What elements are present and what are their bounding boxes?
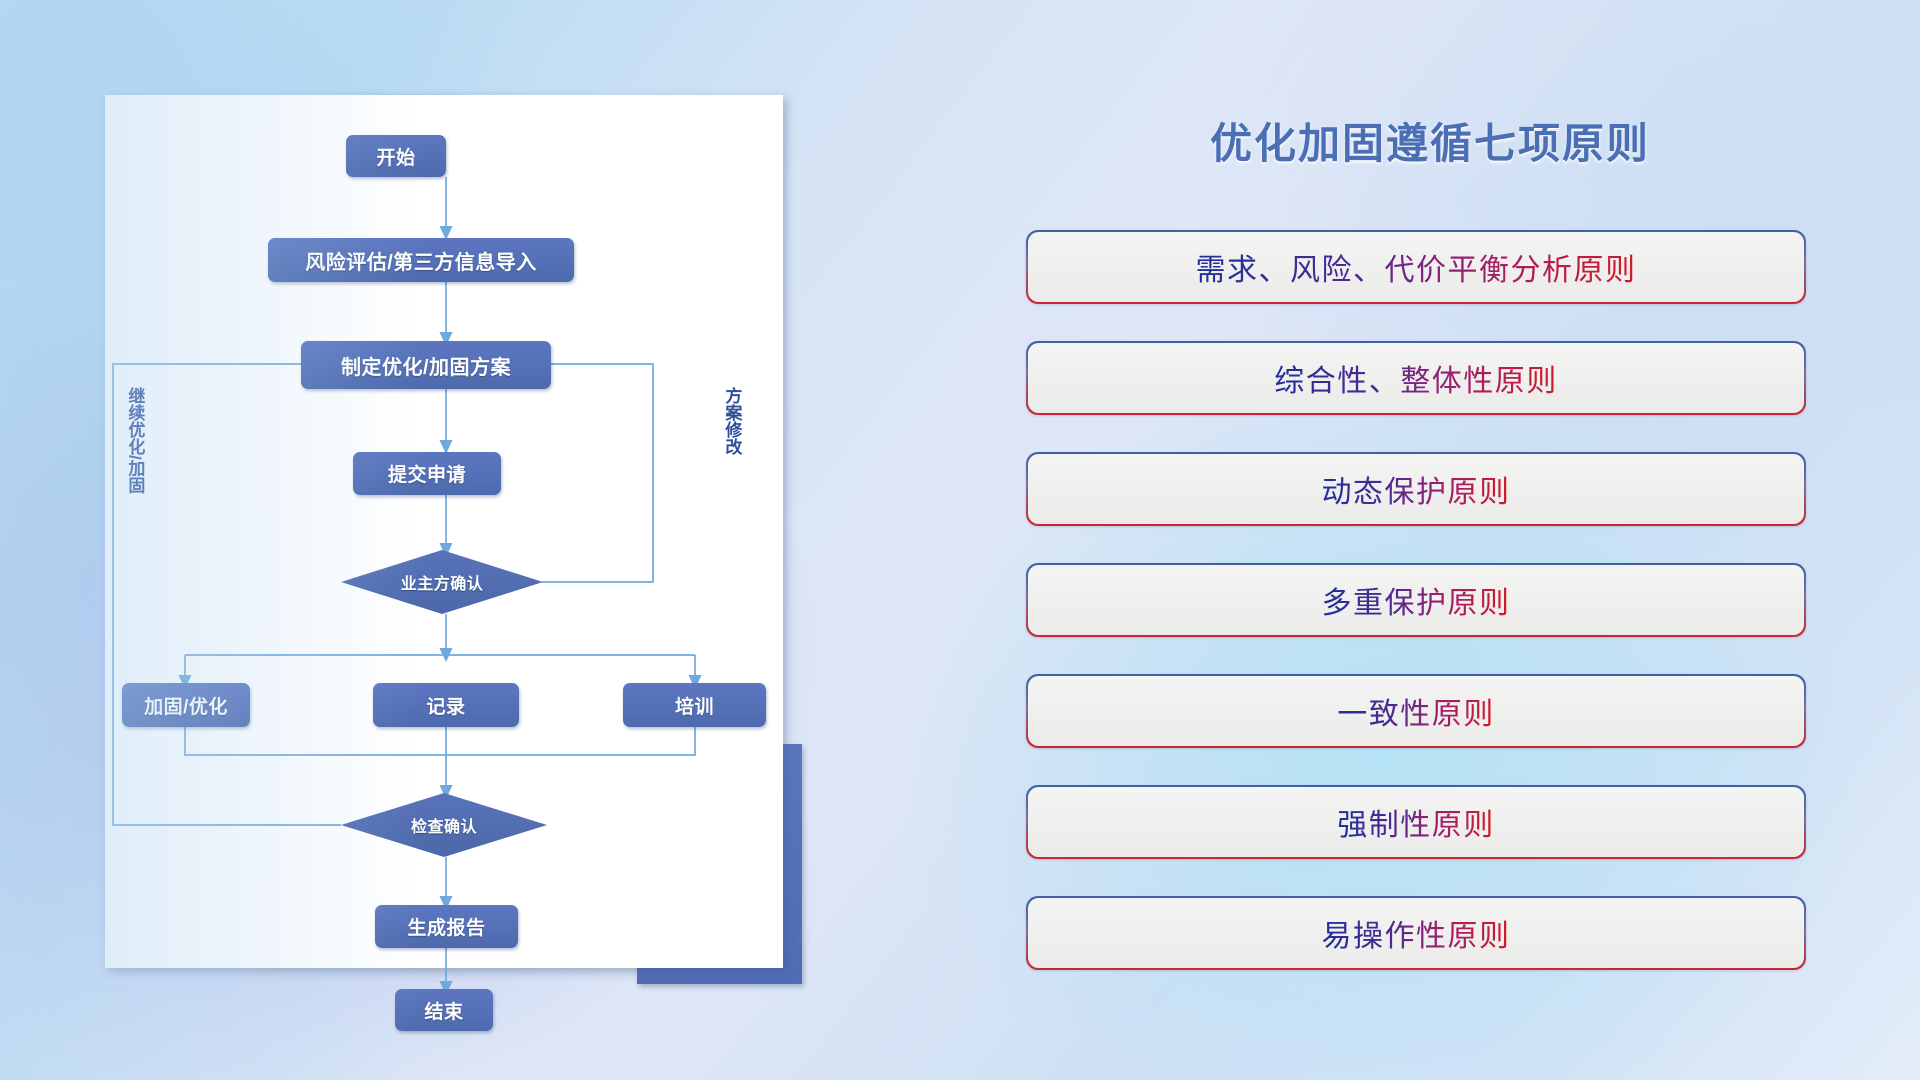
flow-node-reinforce-optimize[interactable]: 加固/优化 — [122, 683, 250, 727]
principle-item[interactable]: 综合性、整体性原则 — [1026, 341, 1806, 415]
flow-node-label: 培训 — [675, 692, 714, 719]
flow-node-label: 加固/优化 — [144, 692, 228, 719]
slide-canvas: 开始 风险评估/第三方信息导入 制定优化/加固方案 提交申请 业主方确认 加固/… — [0, 0, 1920, 1080]
flow-node-label: 制定优化/加固方案 — [341, 351, 511, 380]
principle-inner: 动态保护原则 — [1028, 454, 1805, 525]
flow-node-owner-confirm[interactable]: 业主方确认 — [341, 550, 543, 614]
principle-item[interactable]: 需求、风险、代价平衡分析原则 — [1026, 230, 1806, 304]
principles-list: 需求、风险、代价平衡分析原则 综合性、整体性原则 动态保护原则 多重保护原则 一… — [1026, 230, 1806, 1007]
flow-node-inspection-confirm[interactable]: 检查确认 — [341, 793, 547, 857]
flow-node-generate-report[interactable]: 生成报告 — [375, 905, 518, 948]
principle-label: 综合性、整体性原则 — [1274, 356, 1558, 400]
principle-label: 一致性原则 — [1337, 689, 1495, 733]
edge-label-continue-optimize: 继续优化/加固 — [126, 387, 143, 494]
edge-label-plan-revision: 方案修改 — [723, 387, 740, 455]
flowchart: 开始 风险评估/第三方信息导入 制定优化/加固方案 提交申请 业主方确认 加固/… — [105, 95, 783, 968]
principle-item[interactable]: 动态保护原则 — [1026, 452, 1806, 526]
principle-inner: 强制性原则 — [1028, 787, 1805, 858]
principle-inner: 一致性原则 — [1028, 676, 1805, 747]
flow-node-record[interactable]: 记录 — [373, 683, 519, 727]
flow-node-training[interactable]: 培训 — [623, 683, 766, 727]
principle-label: 动态保护原则 — [1322, 467, 1511, 511]
flow-node-label: 记录 — [426, 692, 465, 719]
flow-node-label: 结束 — [424, 997, 463, 1024]
flow-node-label: 生成报告 — [407, 913, 485, 940]
principle-label: 需求、风险、代价平衡分析原则 — [1196, 245, 1637, 289]
principle-inner: 综合性、整体性原则 — [1028, 343, 1805, 414]
flow-node-submit-application[interactable]: 提交申请 — [353, 452, 501, 495]
principle-inner: 需求、风险、代价平衡分析原则 — [1028, 232, 1805, 303]
flow-node-end[interactable]: 结束 — [395, 989, 493, 1031]
flow-node-label: 提交申请 — [388, 460, 466, 487]
flow-node-label: 检查确认 — [411, 813, 477, 837]
flowchart-card: 开始 风险评估/第三方信息导入 制定优化/加固方案 提交申请 业主方确认 加固/… — [105, 95, 783, 968]
principle-item[interactable]: 多重保护原则 — [1026, 563, 1806, 637]
principle-inner: 多重保护原则 — [1028, 565, 1805, 636]
principle-label: 易操作性原则 — [1322, 911, 1511, 955]
flow-node-label: 风险评估/第三方信息导入 — [305, 246, 537, 275]
flow-node-label: 业主方确认 — [401, 570, 484, 594]
flow-node-start[interactable]: 开始 — [346, 135, 446, 177]
flow-node-label: 开始 — [376, 143, 415, 170]
flow-node-make-plan[interactable]: 制定优化/加固方案 — [301, 341, 551, 389]
flow-node-risk-assessment[interactable]: 风险评估/第三方信息导入 — [268, 238, 574, 282]
principle-label: 强制性原则 — [1337, 800, 1495, 844]
panel-title: 优化加固遵循七项原则 — [1030, 110, 1830, 171]
principle-item[interactable]: 易操作性原则 — [1026, 896, 1806, 970]
principle-inner: 易操作性原则 — [1028, 898, 1805, 969]
principle-item[interactable]: 强制性原则 — [1026, 785, 1806, 859]
principle-label: 多重保护原则 — [1322, 578, 1511, 622]
principle-item[interactable]: 一致性原则 — [1026, 674, 1806, 748]
